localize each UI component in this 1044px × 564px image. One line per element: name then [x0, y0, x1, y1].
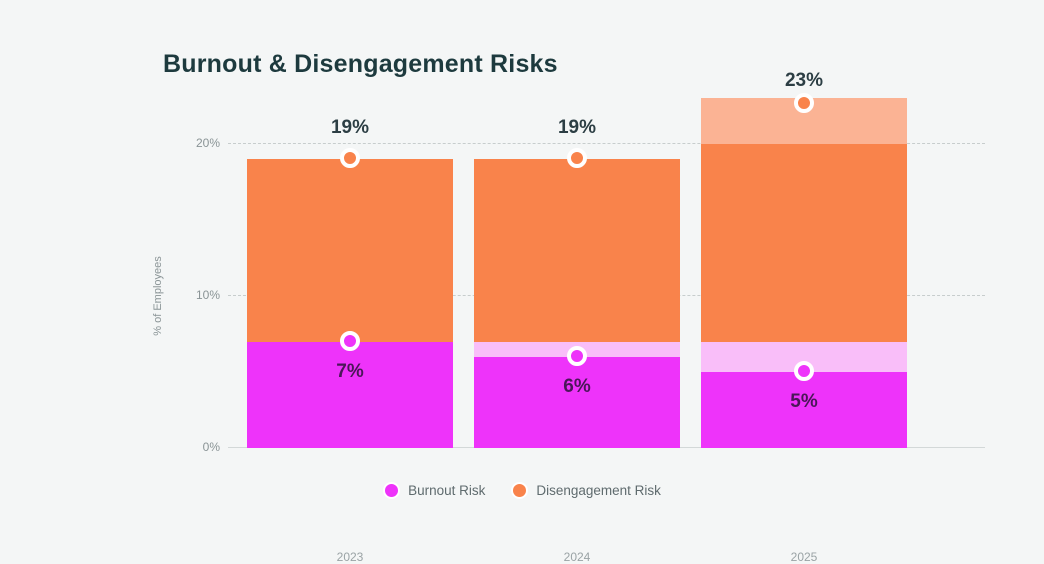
marker-burnout-2024[interactable] — [567, 346, 587, 366]
data-label-burnout-2024: 6% — [563, 376, 590, 398]
legend-swatch-icon-disengagement — [511, 482, 528, 499]
chart-card: Burnout & Disengagement Risks % of Emplo… — [0, 0, 1044, 545]
chart-title: Burnout & Disengagement Risks — [163, 50, 558, 79]
plot-area: 19% 19% 23% 7% 6% 5% 2023 2024 2025 — [228, 95, 985, 448]
bar-segment-burnout-2023[interactable] — [247, 342, 453, 448]
data-label-burnout-2023: 7% — [336, 361, 363, 383]
bar-segment-disengagement-2024[interactable] — [474, 159, 680, 342]
data-label-disengagement-2023: 19% — [331, 117, 369, 139]
data-label-disengagement-2025: 23% — [785, 70, 823, 92]
legend-item-disengagement-risk[interactable]: Disengagement Risk — [511, 482, 661, 499]
marker-disengagement-2024[interactable] — [567, 148, 587, 168]
bar-segment-disengagement-2023[interactable] — [247, 159, 453, 342]
marker-disengagement-2023[interactable] — [340, 148, 360, 168]
bar-segment-burnout-2024[interactable] — [474, 357, 680, 448]
y-tick-label-20: 20% — [168, 136, 220, 150]
legend-label-disengagement: Disengagement Risk — [536, 483, 661, 498]
x-tick-label-2025: 2025 — [701, 550, 907, 564]
y-tick-label-0: 0% — [168, 440, 220, 454]
x-tick-label-2023: 2023 — [247, 550, 453, 564]
marker-disengagement-2025[interactable] — [794, 93, 814, 113]
legend-swatch-icon-burnout — [383, 482, 400, 499]
bar-stack-2023[interactable] — [247, 159, 453, 448]
x-tick-label-2024: 2024 — [474, 550, 680, 564]
data-label-burnout-2025: 5% — [790, 391, 817, 413]
y-axis-title: % of Employees — [152, 256, 164, 335]
marker-burnout-2023[interactable] — [340, 331, 360, 351]
y-tick-label-10: 10% — [168, 288, 220, 302]
data-label-disengagement-2024: 19% — [558, 117, 596, 139]
legend-label-burnout: Burnout Risk — [408, 483, 485, 498]
chart-legend: Burnout Risk Disengagement Risk — [0, 482, 1044, 499]
marker-burnout-2025[interactable] — [794, 361, 814, 381]
legend-item-burnout-risk[interactable]: Burnout Risk — [383, 482, 485, 499]
bar-stack-2024[interactable] — [474, 159, 680, 448]
bar-segment-disengagement-2025[interactable] — [701, 144, 907, 342]
